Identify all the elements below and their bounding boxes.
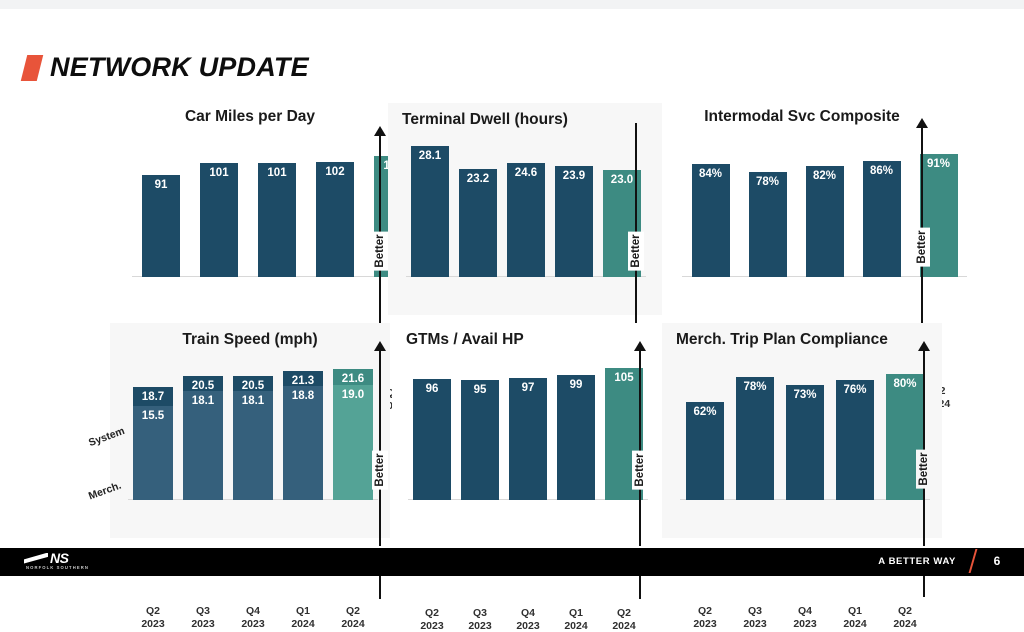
plot-area-gtms-avail-hp: 96959799105 <box>408 359 648 500</box>
page-title-text: NETWORK UPDATE <box>50 52 309 83</box>
x-axis-tick: Q42023 <box>228 605 278 630</box>
bar-column: 78% <box>749 172 787 277</box>
bar: 78% <box>749 172 787 277</box>
bar-value-label: 23.2 <box>467 174 489 277</box>
arrow-head-up-icon <box>374 126 386 136</box>
x-axis-tick: Q12024 <box>278 605 328 630</box>
footer-accent-slash <box>969 549 978 573</box>
plot-area-train-speed-mph: 18.715.520.518.120.518.121.318.821.619.0 <box>128 361 378 500</box>
x-tick-line: Q3 <box>456 607 504 620</box>
better-label: Better <box>372 450 388 489</box>
x-axis-tick: Q32023 <box>456 607 504 632</box>
x-axis-tick: Q32023 <box>178 605 228 630</box>
bar-column: 101 <box>258 163 296 277</box>
bar-segment-merch: 18.8 <box>283 386 323 500</box>
x-axis-tick: Q22023 <box>680 605 730 630</box>
bar-value-label: 78% <box>756 177 779 277</box>
bar: 23.9 <box>555 166 593 277</box>
x-tick-line: 2023 <box>780 618 830 631</box>
x-tick-line: Q3 <box>178 605 228 618</box>
bar-column: 23.2 <box>459 169 497 277</box>
chart-panel-car-miles-per-day: Car Miles per DayQ22023Q32023Q42023Q1202… <box>110 100 390 315</box>
x-axis-tick: Q42023 <box>504 607 552 632</box>
bar: 24.6 <box>507 163 545 277</box>
bar-column: 96 <box>413 379 451 500</box>
x-tick-line: Q2 <box>600 607 648 620</box>
bar-value-label: 21.6 <box>342 374 364 385</box>
bar-value-label: 97 <box>522 383 535 500</box>
page-number: 6 <box>990 554 1004 568</box>
logo-mark: NS <box>24 552 68 564</box>
bar: 101 <box>258 163 296 277</box>
x-tick-line: Q1 <box>278 605 328 618</box>
series-label-merch: Merch. <box>87 480 123 503</box>
arrow-head-up-icon <box>374 341 386 351</box>
bar-column: 78% <box>736 377 774 500</box>
x-axis-tick: Q12024 <box>830 605 880 630</box>
bar-segment-system: 18.7 <box>133 387 173 406</box>
x-tick-line: 2023 <box>178 618 228 631</box>
chart-title-car-miles-per-day: Car Miles per Day <box>110 108 390 126</box>
x-tick-line: Q4 <box>504 607 552 620</box>
bar: 28.1 <box>411 146 449 277</box>
stacked-bar: 20.518.1 <box>183 376 223 500</box>
chart-title-terminal-dwell-hours: Terminal Dwell (hours) <box>388 111 663 129</box>
x-tick-line: Q2 <box>128 605 178 618</box>
x-axis-tick: Q22024 <box>328 605 378 630</box>
bar-segment-system: 20.5 <box>233 376 273 391</box>
x-tick-line: 2024 <box>278 618 328 631</box>
bar-column: 91 <box>142 175 180 277</box>
bar-value-label: 62% <box>693 407 716 500</box>
bar-segment-merch: 19.0 <box>333 385 373 500</box>
x-tick-line: 2023 <box>680 618 730 631</box>
bar-value-label: 24.6 <box>515 168 537 277</box>
bar-value-label: 20.5 <box>242 381 264 391</box>
chart-panel-train-speed-mph: Train Speed (mph)Q22023Q32023Q42023Q1202… <box>110 323 390 538</box>
bar-value-label: 95 <box>474 385 487 500</box>
x-tick-line: 2024 <box>880 618 930 631</box>
arrow-head-up-icon <box>918 341 930 351</box>
bar-value-label: 23.9 <box>563 171 585 277</box>
bar: 102 <box>316 162 354 277</box>
x-tick-line: Q4 <box>228 605 278 618</box>
bar-value-label: 101 <box>209 168 228 277</box>
x-tick-line: 2023 <box>228 618 278 631</box>
bar: 23.2 <box>459 169 497 277</box>
x-tick-line: 2024 <box>552 620 600 632</box>
bar-column: 62% <box>686 402 724 500</box>
x-tick-line: 2024 <box>328 618 378 631</box>
bar-column: 18.715.5 <box>133 387 173 500</box>
x-axis-tick: Q12024 <box>552 607 600 632</box>
bar: 99 <box>557 375 595 500</box>
norfolk-southern-logo: NS NORFOLK SOUTHERN <box>24 552 89 570</box>
logo-letters: NS <box>50 552 68 564</box>
bar-column: 21.318.8 <box>283 371 323 500</box>
bar-value-label: 96 <box>426 384 439 500</box>
bar-column: 24.6 <box>507 163 545 277</box>
swoosh-icon <box>24 553 48 564</box>
arrow-head-up-icon <box>916 118 928 128</box>
x-tick-line: 2024 <box>830 618 880 631</box>
x-tick-line: Q3 <box>730 605 780 618</box>
plot-area-terminal-dwell-hours: 28.123.224.623.923.0 <box>406 133 646 277</box>
bar-segment-merch: 18.1 <box>233 391 273 500</box>
stacked-bar: 21.318.8 <box>283 371 323 500</box>
logo-subtitle: NORFOLK SOUTHERN <box>26 565 89 570</box>
bar-segment-system: 21.6 <box>333 369 373 385</box>
bar-value-label: 20.5 <box>192 381 214 391</box>
bar-value-label: 21.3 <box>292 376 314 386</box>
x-axis-tick: Q22023 <box>408 607 456 632</box>
stacked-bar: 20.518.1 <box>233 376 273 500</box>
bar-column: 73% <box>786 385 824 500</box>
bar-value-label: 15.5 <box>142 411 164 500</box>
bar-value-label: 101 <box>267 168 286 277</box>
slide-footer: NS NORFOLK SOUTHERN A BETTER WAY 6 <box>0 546 1024 576</box>
bar-column: 20.518.1 <box>233 376 273 500</box>
bar: 82% <box>806 166 844 277</box>
footer-divider <box>0 546 1024 548</box>
bar-value-label: 99 <box>570 380 583 500</box>
x-tick-line: 2023 <box>504 620 552 632</box>
chart-title-gtms-avail-hp: GTMs / Avail HP <box>392 331 664 349</box>
bar: 86% <box>863 161 901 277</box>
stacked-bar: 18.715.5 <box>133 387 173 500</box>
bar-column: 76% <box>836 380 874 500</box>
bar-segment-merch: 18.1 <box>183 391 223 500</box>
x-tick-line: 2023 <box>456 620 504 632</box>
bar-value-label: 18.1 <box>192 396 214 500</box>
bar-column: 23.9 <box>555 166 593 277</box>
better-label: Better <box>628 231 644 270</box>
x-tick-line: Q2 <box>408 607 456 620</box>
bar-column: 84% <box>692 164 730 277</box>
bar: 91 <box>142 175 180 277</box>
footer-tagline: A BETTER WAY <box>878 556 956 567</box>
stacked-bar: 21.619.0 <box>333 369 373 500</box>
bar-value-label: 84% <box>699 169 722 277</box>
bar: 84% <box>692 164 730 277</box>
x-tick-line: Q1 <box>552 607 600 620</box>
chart-panel-merch-trip-plan-compliance: Merch. Trip Plan ComplianceQ22023Q32023Q… <box>662 323 942 538</box>
bar-value-label: 19.0 <box>342 390 364 500</box>
plot-area-merch-trip-plan-compliance: 62%78%73%76%80% <box>680 361 930 500</box>
x-tick-line: Q2 <box>328 605 378 618</box>
better-label: Better <box>914 227 930 266</box>
chart-title-merch-trip-plan-compliance: Merch. Trip Plan Compliance <box>662 331 942 349</box>
bar-segment-merch: 15.5 <box>133 406 173 500</box>
bar-value-label: 82% <box>813 171 836 277</box>
bar: 78% <box>736 377 774 500</box>
bar-column: 20.518.1 <box>183 376 223 500</box>
bar-value-label: 91 <box>155 180 168 277</box>
bar-column: 101 <box>200 163 238 277</box>
bar: 62% <box>686 402 724 500</box>
x-axis-tick: Q32023 <box>730 605 780 630</box>
bar-value-label: 86% <box>870 166 893 277</box>
bar: 96 <box>413 379 451 500</box>
x-axis-tick: Q22023 <box>128 605 178 630</box>
bar-column: 21.619.0 <box>333 369 373 500</box>
bar-value-label: 18.8 <box>292 391 314 500</box>
chart-panel-intermodal-svc-composite: Intermodal Svc CompositeQ22023Q32023Q420… <box>662 100 942 315</box>
bar-column: 28.1 <box>411 146 449 277</box>
better-label: Better <box>372 231 388 270</box>
bar-value-label: 73% <box>793 390 816 500</box>
chart-title-train-speed-mph: Train Speed (mph) <box>110 331 390 349</box>
x-tick-line: 2024 <box>600 620 648 632</box>
x-tick-line: 2023 <box>128 618 178 631</box>
page-title: NETWORK UPDATE <box>24 52 309 83</box>
x-tick-line: 2023 <box>730 618 780 631</box>
bar-column: 97 <box>509 378 547 500</box>
x-tick-line: Q2 <box>880 605 930 618</box>
bar: 101 <box>200 163 238 277</box>
bar-column: 102 <box>316 162 354 277</box>
x-axis-tick: Q42023 <box>780 605 830 630</box>
bar-column: 82% <box>806 166 844 277</box>
chart-title-intermodal-svc-composite: Intermodal Svc Composite <box>662 108 942 126</box>
arrow-head-up-icon <box>634 341 646 351</box>
bar-column: 86% <box>863 161 901 277</box>
footer-right-group: A BETTER WAY 6 <box>878 546 1004 576</box>
bar-segment-system: 21.3 <box>283 371 323 386</box>
series-label-system: System <box>87 425 126 449</box>
bar-column: 99 <box>557 375 595 500</box>
bar-value-label: 76% <box>843 385 866 500</box>
bar: 73% <box>786 385 824 500</box>
top-strip <box>0 0 1024 9</box>
title-accent-slash <box>21 55 43 81</box>
x-tick-line: Q2 <box>680 605 730 618</box>
bar-column: 95 <box>461 380 499 500</box>
bar: 95 <box>461 380 499 500</box>
x-axis-tick: Q22024 <box>600 607 648 632</box>
x-tick-line: 2023 <box>408 620 456 632</box>
x-axis-tick: Q22024 <box>880 605 930 630</box>
bar-value-label: 102 <box>325 167 344 277</box>
bar-segment-system: 20.5 <box>183 376 223 391</box>
bar-value-label: 18.7 <box>142 392 164 406</box>
bar-value-label: 18.1 <box>242 396 264 500</box>
bar: 76% <box>836 380 874 500</box>
bar-value-label: 28.1 <box>419 151 441 277</box>
better-label: Better <box>632 450 648 489</box>
chart-panel-gtms-avail-hp: GTMs / Avail HPQ22023Q32023Q42023Q12024Q… <box>392 323 664 538</box>
chart-panel-terminal-dwell-hours: Terminal Dwell (hours)Q22023Q32023Q42023… <box>388 103 663 315</box>
bar: 97 <box>509 378 547 500</box>
x-tick-line: Q4 <box>780 605 830 618</box>
bar-value-label: 78% <box>743 382 766 500</box>
better-label: Better <box>916 449 932 488</box>
x-tick-line: Q1 <box>830 605 880 618</box>
